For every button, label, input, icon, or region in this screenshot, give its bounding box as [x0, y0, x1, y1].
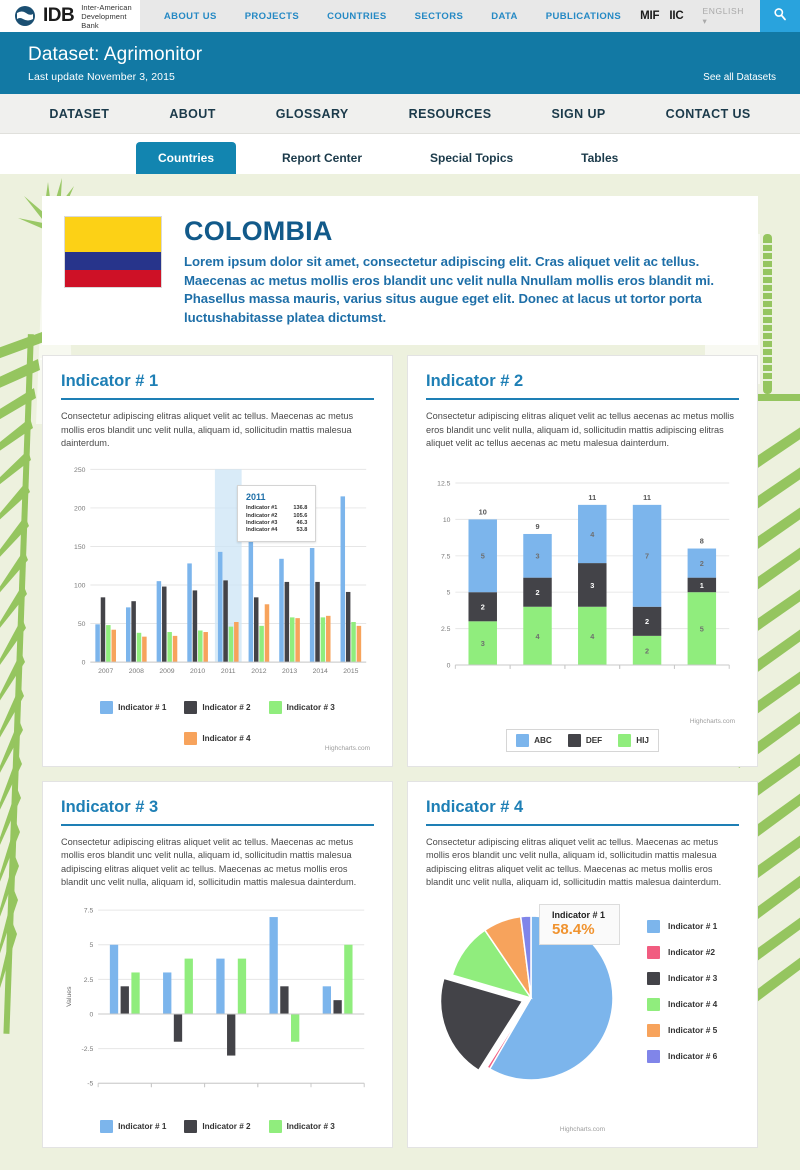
main-menu: DATASET ABOUT GLOSSARY RESOURCES SIGN UP… [0, 94, 800, 134]
idb-logo[interactable]: IDB Inter-American Development Bank [0, 0, 140, 32]
topnav-link-projects[interactable]: PROJECTS [231, 11, 313, 22]
tab-report-center[interactable]: Report Center [260, 142, 384, 174]
last-update-text: Last update November 3, 2015 [28, 71, 776, 83]
legend-swatch-dark [647, 972, 660, 985]
legend-label: Indicator #2 [668, 947, 715, 957]
indicator-1-svg[interactable]: 0501001502002502007200820092010201120122… [61, 459, 374, 694]
mif-link[interactable]: MIF [635, 10, 664, 22]
language-label: ENGLISH [702, 6, 744, 16]
svg-text:11: 11 [643, 492, 651, 501]
svg-text:3: 3 [535, 551, 539, 560]
legend-swatch-orange [647, 1024, 660, 1037]
legend-swatch-green [618, 734, 631, 747]
svg-text:200: 200 [74, 505, 86, 512]
legend-item-indicator-5[interactable]: Indicator # 5 [647, 1024, 717, 1037]
tooltip-label: Indicator #4 [246, 527, 277, 534]
legend-swatch-green [269, 701, 282, 714]
indicator-1-chart[interactable]: 0501001502002502007200820092010201120122… [61, 459, 374, 699]
indicator-2-legend: ABC DEF HIJ [506, 729, 659, 752]
svg-text:5: 5 [700, 624, 704, 633]
menu-item-resources[interactable]: RESOURCES [379, 107, 522, 121]
svg-text:150: 150 [74, 543, 86, 550]
pie-tooltip-value: 58.4% [552, 921, 605, 938]
pie-tooltip: Indicator # 1 58.4% [539, 904, 620, 945]
legend-item-def[interactable]: DEF [568, 734, 602, 747]
tooltip-value: 46.3 [277, 519, 307, 526]
country-text-block: COLOMBIA Lorem ipsum dolor sit amet, con… [184, 216, 732, 327]
legend-swatch-dark [568, 734, 581, 747]
legend-swatch-blue [100, 701, 113, 714]
svg-text:10: 10 [479, 507, 487, 516]
legend-item-hij[interactable]: HIJ [618, 734, 649, 747]
indicator-4-description: Consectetur adipiscing elitras aliquet v… [426, 836, 739, 890]
indicator-card-grid: Indicator # 1 Consectetur adipiscing eli… [0, 355, 800, 1148]
idb-logo-text: IDB [43, 5, 74, 27]
legend-swatch-green [647, 998, 660, 1011]
legend-label: Indicator # 1 [668, 921, 717, 931]
tab-countries[interactable]: Countries [136, 142, 236, 174]
svg-text:12.5: 12.5 [437, 480, 450, 487]
flag-stripe-blue [65, 252, 161, 270]
legend-item-indicator-2[interactable]: Indicator #2 [647, 946, 717, 959]
svg-text:2008: 2008 [129, 667, 144, 674]
top-nav-right-group: MIF IIC ENGLISH ▾ [635, 0, 800, 32]
svg-text:11: 11 [588, 492, 596, 501]
search-icon [773, 7, 787, 26]
country-header: COLOMBIA Lorem ipsum dolor sit amet, con… [42, 196, 758, 345]
legend-label: Indicator # 3 [668, 973, 717, 983]
svg-text:2011: 2011 [221, 667, 236, 674]
see-all-datasets-link[interactable]: See all Datasets [703, 72, 776, 83]
tooltip-year: 2011 [246, 492, 307, 502]
indicator-1-legend: Indicator # 1 Indicator # 2 Indicator # … [61, 701, 374, 745]
indicator-3-card: Indicator # 3 Consectetur adipiscing eli… [42, 781, 393, 1148]
legend-item-indicator-3[interactable]: Indicator # 3 [269, 1120, 335, 1133]
topnav-link-countries[interactable]: COUNTRIES [313, 11, 401, 22]
logo-sub-line1: Inter-American [81, 3, 132, 12]
topnav-link-about-us[interactable]: ABOUT US [150, 11, 231, 22]
svg-text:5: 5 [89, 942, 93, 949]
tooltip-value: 53.8 [277, 527, 307, 534]
svg-text:100: 100 [74, 582, 86, 589]
legend-label: Indicator # 3 [287, 703, 335, 712]
flag-stripe-yellow [65, 217, 161, 252]
country-name: COLOMBIA [184, 216, 732, 247]
legend-item-indicator-3[interactable]: Indicator # 3 [647, 972, 717, 985]
svg-text:2013: 2013 [282, 667, 297, 674]
legend-label: Indicator # 3 [287, 1122, 335, 1131]
idb-globe-icon [14, 5, 36, 27]
svg-text:2: 2 [645, 617, 649, 626]
svg-text:2: 2 [481, 602, 485, 611]
svg-text:2009: 2009 [159, 667, 174, 674]
svg-text:2012: 2012 [251, 667, 266, 674]
legend-swatch-orange [184, 732, 197, 745]
legend-swatch-purple [647, 1050, 660, 1063]
legend-label: ABC [534, 736, 552, 745]
tooltip-row: Indicator #3 46.3 [246, 519, 307, 526]
tooltip-label: Indicator #3 [246, 519, 277, 526]
svg-text:2007: 2007 [98, 667, 113, 674]
indicator-3-title: Indicator # 3 [61, 798, 374, 826]
legend-item-indicator-4[interactable]: Indicator # 4 [184, 732, 250, 745]
svg-text:10: 10 [443, 516, 451, 523]
indicator-1-description: Consectetur adipiscing elitras aliquet v… [61, 410, 374, 451]
svg-text:5: 5 [481, 551, 485, 560]
indicator-2-title: Indicator # 2 [426, 372, 739, 400]
indicator-4-credit: Highcharts.com [426, 1126, 739, 1133]
legend-item-indicator-2[interactable]: Indicator # 2 [184, 701, 250, 714]
legend-label: Indicator # 4 [202, 734, 250, 743]
legend-label: Indicator # 1 [118, 1122, 166, 1131]
legend-swatch-blue [647, 920, 660, 933]
svg-text:0: 0 [82, 659, 86, 666]
legend-label: Indicator # 2 [202, 1122, 250, 1131]
top-nav-links: ABOUT US PROJECTS COUNTRIES SECTORS DATA… [140, 0, 635, 32]
legend-swatch-pink [647, 946, 660, 959]
indicator-3-legend: Indicator # 1 Indicator # 2 Indicator # … [61, 1120, 374, 1133]
legend-swatch-dark [184, 701, 197, 714]
svg-text:2.5: 2.5 [84, 976, 94, 983]
legend-item-indicator-1[interactable]: Indicator # 1 [647, 920, 717, 933]
indicator-1-credit: Highcharts.com [61, 745, 374, 752]
menu-item-about[interactable]: ABOUT [139, 107, 245, 121]
svg-text:7.5: 7.5 [441, 553, 451, 560]
indicator-2-svg[interactable]: 02.557.51012.532510423943411227115128 [426, 459, 739, 689]
svg-text:-5: -5 [87, 1080, 93, 1087]
page-content: COLOMBIA Lorem ipsum dolor sit amet, con… [0, 174, 800, 1170]
svg-text:7: 7 [645, 551, 649, 560]
svg-text:3: 3 [481, 639, 485, 648]
top-navigation-bar: IDB Inter-American Development Bank ABOU… [0, 0, 800, 32]
indicator-2-credit: Highcharts.com [426, 718, 739, 725]
sub-tab-bar: Countries Report Center Special Topics T… [0, 134, 800, 174]
menu-item-dataset[interactable]: DATASET [19, 107, 139, 121]
tooltip-label: Indicator #2 [246, 512, 277, 519]
legend-swatch-dark [184, 1120, 197, 1133]
svg-text:5: 5 [447, 589, 451, 596]
svg-text:3: 3 [590, 580, 594, 589]
tab-tables[interactable]: Tables [559, 142, 640, 174]
language-selector[interactable]: ENGLISH ▾ [688, 6, 759, 27]
menu-item-sign-up[interactable]: SIGN UP [521, 107, 635, 121]
indicator-3-description: Consectetur adipiscing elitras aliquet v… [61, 836, 374, 890]
svg-text:2014: 2014 [313, 667, 328, 674]
legend-label: DEF [586, 736, 602, 745]
indicator-2-card: Indicator # 2 Consectetur adipiscing eli… [407, 355, 758, 767]
legend-swatch-blue [100, 1120, 113, 1133]
indicator-4-chart[interactable]: Indicator # 1 58.4% Indicator # 1 Indica… [426, 898, 739, 1126]
dataset-banner: Dataset: Agrimonitor Last update Novembe… [0, 32, 800, 94]
flag-stripe-red [65, 270, 161, 288]
idb-logo-subtitle: Inter-American Development Bank [81, 3, 140, 30]
svg-text:2010: 2010 [190, 667, 205, 674]
legend-label: HIJ [636, 736, 649, 745]
tooltip-value: 136.8 [277, 505, 307, 512]
svg-text:1: 1 [700, 580, 704, 589]
legend-label: Indicator # 2 [202, 703, 250, 712]
svg-text:2015: 2015 [343, 667, 358, 674]
indicator-1-title: Indicator # 1 [61, 372, 374, 400]
pie-wrapper[interactable]: Indicator # 1 58.4% [426, 898, 641, 1103]
legend-item-indicator-4[interactable]: Indicator # 4 [647, 998, 717, 1011]
indicator-2-chart[interactable]: 02.557.51012.532510423943411227115128 [426, 459, 739, 718]
legend-swatch-blue [516, 734, 529, 747]
svg-text:-2.5: -2.5 [81, 1046, 93, 1053]
tooltip-table: Indicator #1 136.8 Indicator #2 105.6 In… [246, 505, 307, 535]
menu-item-contact-us[interactable]: CONTACT US [636, 107, 781, 121]
indicator-4-title: Indicator # 4 [426, 798, 739, 826]
pie-tooltip-label: Indicator # 1 [552, 910, 605, 920]
legend-label: Indicator # 4 [668, 999, 717, 1009]
svg-text:2.5: 2.5 [441, 626, 451, 633]
tooltip-value: 105.6 [277, 512, 307, 519]
tooltip-label: Indicator #1 [246, 505, 277, 512]
tooltip-row: Indicator #4 53.8 [246, 527, 307, 534]
search-button[interactable] [760, 0, 800, 32]
svg-text:50: 50 [78, 620, 86, 627]
svg-text:2: 2 [535, 588, 539, 597]
legend-label: Indicator # 1 [118, 703, 166, 712]
tab-special-topics[interactable]: Special Topics [408, 142, 535, 174]
indicator-3-svg[interactable]: -5-2.502.557.5Values [61, 898, 374, 1113]
topnav-link-data[interactable]: DATA [477, 11, 532, 22]
legend-item-indicator-2[interactable]: Indicator # 2 [184, 1120, 250, 1133]
legend-swatch-green [269, 1120, 282, 1133]
page-title: Dataset: Agrimonitor [28, 44, 776, 66]
country-header-panel: COLOMBIA Lorem ipsum dolor sit amet, con… [42, 196, 758, 345]
country-description: Lorem ipsum dolor sit amet, consectetur … [184, 253, 732, 327]
svg-text:8: 8 [700, 536, 704, 545]
logo-sub-line2: Development Bank [81, 12, 126, 30]
legend-item-indicator-3[interactable]: Indicator # 3 [269, 701, 335, 714]
topnav-link-sectors[interactable]: SECTORS [401, 11, 478, 22]
legend-label: Indicator # 5 [668, 1025, 717, 1035]
colombia-flag-icon [64, 216, 162, 288]
svg-text:250: 250 [74, 466, 86, 473]
chevron-down-icon: ▾ [702, 16, 707, 26]
indicator-3-chart[interactable]: -5-2.502.557.5Values [61, 898, 374, 1118]
svg-text:9: 9 [535, 522, 539, 531]
svg-text:Values: Values [66, 985, 73, 1006]
menu-item-glossary[interactable]: GLOSSARY [246, 107, 379, 121]
svg-text:0: 0 [89, 1011, 93, 1018]
topnav-link-publications[interactable]: PUBLICATIONS [532, 11, 635, 22]
iic-link[interactable]: IIC [664, 10, 688, 22]
indicator-2-legend-wrap: ABC DEF HIJ [426, 729, 739, 752]
legend-item-indicator-1[interactable]: Indicator # 1 [100, 701, 166, 714]
svg-text:2: 2 [645, 646, 649, 655]
indicator-1-card: Indicator # 1 Consectetur adipiscing eli… [42, 355, 393, 767]
svg-text:0: 0 [447, 662, 451, 669]
indicator-4-card: Indicator # 4 Consectetur adipiscing eli… [407, 781, 758, 1148]
tooltip-row: Indicator #2 105.6 [246, 512, 307, 519]
tooltip-row: Indicator #1 136.8 [246, 505, 307, 512]
svg-text:2: 2 [700, 559, 704, 568]
svg-text:7.5: 7.5 [84, 907, 94, 914]
indicator-2-description: Consectetur adipiscing elitras aliquet v… [426, 410, 739, 451]
legend-item-indicator-6[interactable]: Indicator # 6 [647, 1050, 717, 1063]
legend-item-abc[interactable]: ABC [516, 734, 552, 747]
legend-item-indicator-1[interactable]: Indicator # 1 [100, 1120, 166, 1133]
legend-label: Indicator # 6 [668, 1051, 717, 1061]
indicator-1-tooltip: 2011 Indicator #1 136.8 Indicator #2 105… [237, 485, 316, 543]
indicator-4-legend: Indicator # 1 Indicator #2 Indicator # 3… [647, 898, 717, 1063]
